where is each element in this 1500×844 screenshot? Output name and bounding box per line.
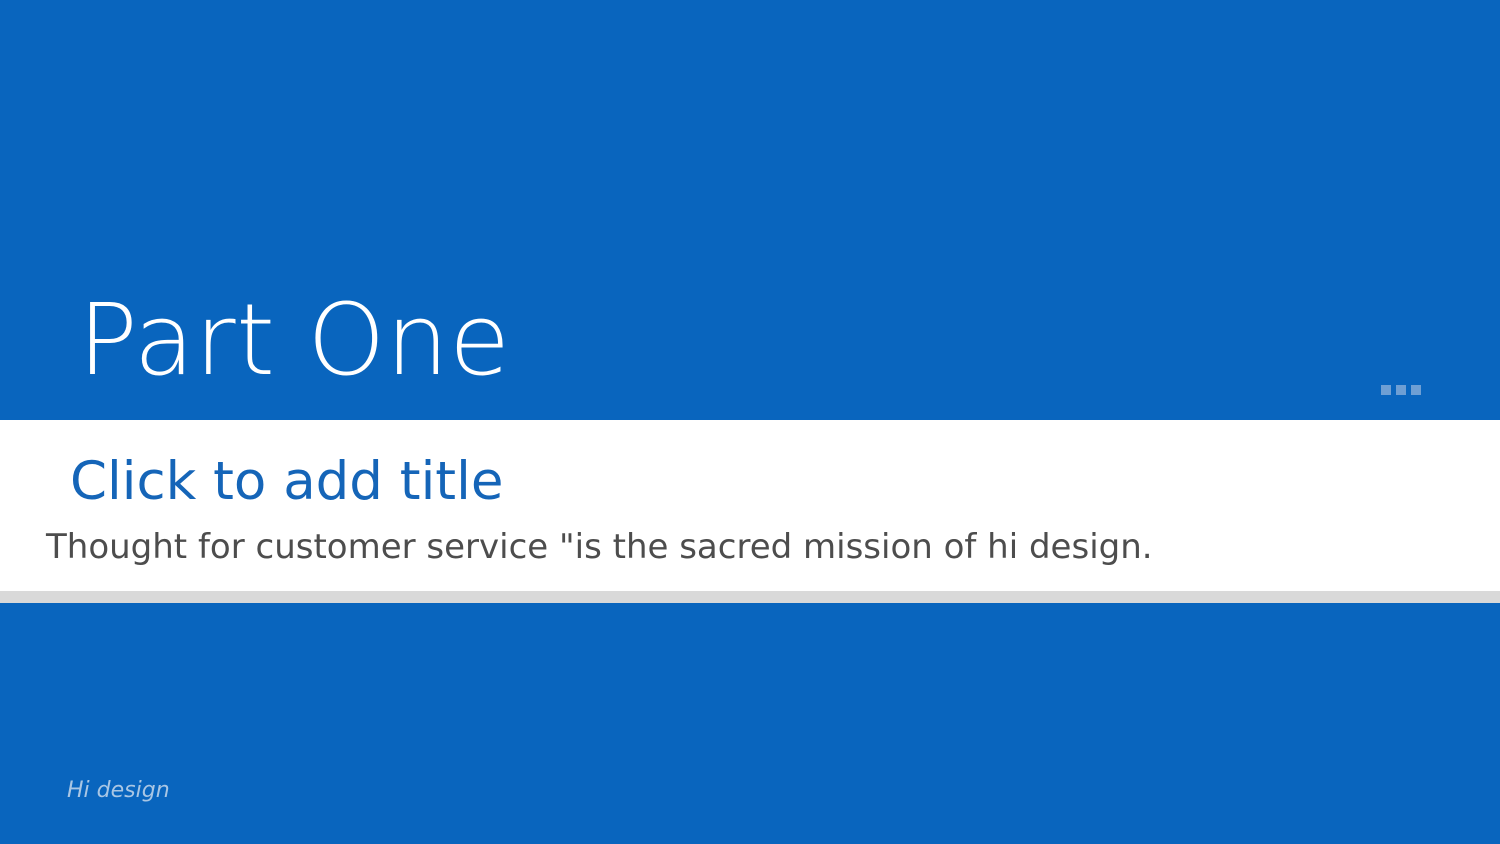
bottom-blue-banner [0, 603, 1500, 844]
square-ornament-2 [1396, 385, 1406, 395]
presentation-slide: Part One Click to add title Thought for … [0, 0, 1500, 844]
square-ornament-1 [1381, 385, 1391, 395]
three-squares-ornament [1381, 385, 1421, 395]
title-placeholder[interactable]: Click to add title [70, 455, 503, 508]
footer-brand-note: Hi design [67, 780, 170, 802]
separator-bar [0, 591, 1500, 603]
subtitle-text[interactable]: Thought for customer service "is the sac… [46, 530, 1153, 564]
square-ornament-3 [1411, 385, 1421, 395]
section-title[interactable]: Part One [78, 291, 510, 390]
